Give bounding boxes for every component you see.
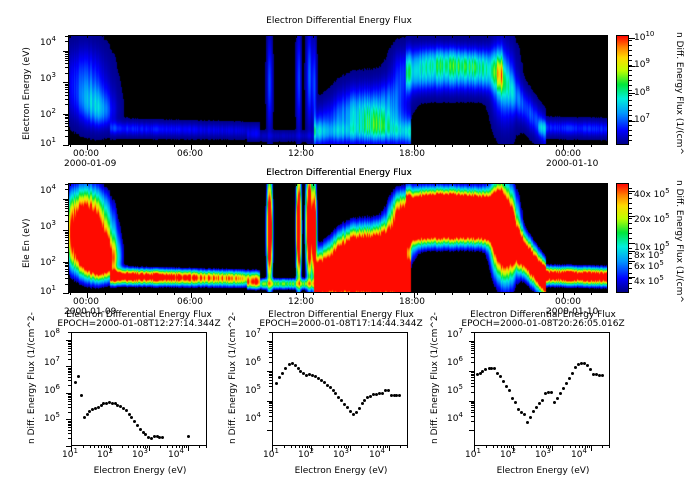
data-point [532,410,535,413]
spectrogram-top-xminor-top [574,35,575,38]
spectrogram-bottom-xminor-top [591,183,592,186]
spectrogram-top-xminor [209,144,210,147]
sp3-box-xminor [497,445,498,448]
colorbar-minor-tick [629,193,632,194]
sp1-box-yminor [68,348,72,349]
spectrogram-top-xminor-top [139,35,140,38]
spectrogram-top-xminor-top [591,35,592,38]
spectrogram-top-yminor [65,92,69,93]
data-point [77,375,80,378]
spectrogram-top-xtick-0: 00:00 [73,149,99,159]
sp1-box-xminor [199,445,200,448]
data-point [125,409,128,412]
colorbar-minor-tick [629,140,632,141]
sp3-box-yminor [471,353,475,354]
sp2-box-xminor [295,445,296,448]
sp1-box-yminor [68,399,72,400]
spectrogram-top-xminor-top [157,35,158,38]
data-point [294,364,297,367]
spectrogram-bottom-ytick-3: 104 [40,186,56,196]
sp2-box-ymajor [267,430,273,431]
data-point [358,407,361,410]
sp3-box-yminor [471,362,475,363]
spectrogram-top-yminor [65,36,69,37]
spectrogram-top-xminor-top [296,35,297,38]
spectrogram-top-xminor-top [70,35,71,38]
spectrogram-top-xminor [278,144,279,147]
spectrogram-top-xminor-top [400,35,401,38]
sp1-box-xminor [128,445,129,448]
colorbar-minor-tick [629,278,632,279]
spectrogram-top-yminor [65,126,69,127]
spectrum-1-xtick-2: 103 [132,450,148,460]
data-point [139,428,142,431]
colorbar-minor-tick [629,45,632,46]
sp1-box-xmajor [110,445,111,451]
spectrogram-top-xminor [105,144,106,147]
sp1-box-xminor [98,445,99,448]
spectrogram-top-yminor [65,85,69,86]
spectrogram-top-xminor [452,144,453,147]
data-point [496,372,499,375]
data-point [508,389,511,392]
spectrogram-bottom-cbar-tick-4: 20x 105 [634,215,670,225]
sp3-box-yminor [471,405,475,406]
sp2-box-yminor [269,346,273,347]
spectrogram-bottom-xminor-top [382,183,383,186]
colorbar-minor-tick [629,218,632,219]
colorbar-tick [629,216,635,217]
spectrogram-top-xminor-top [417,35,418,38]
sp3-box-yminor [471,350,475,351]
data-point [523,413,526,416]
data-point [502,380,505,383]
data-point [381,392,384,395]
spectrum-1-xtick-1: 102 [97,450,113,460]
spectrogram-top-xminor [435,144,436,147]
sp1-box-yminor [68,427,72,428]
spectrogram-bottom-xtick-1: 06:00 [177,297,203,307]
spectrogram-bottom-ymajor-1 [63,293,69,294]
spectrogram-top-xminor-top [521,35,522,38]
spectrogram-bottom-yminor [65,233,69,234]
spectrogram-bottom-cbar-tick-5: 40x 105 [634,190,670,200]
colorbar-minor-tick [629,135,632,136]
sp3-box-xminor [536,445,537,448]
spectrogram-bottom-yminor [65,271,69,272]
data-point [387,389,390,392]
sp2-box-yminor [269,412,273,413]
spectrogram-top-xminor-top [226,35,227,38]
spectrogram-bottom-ytick-0: 101 [40,287,56,297]
colorbar-minor-tick [629,238,632,239]
data-point [529,416,532,419]
colorbar-minor-tick [629,243,632,244]
spectrogram-top-ymajor-3 [63,82,69,83]
spectrogram-top-xminor-top [87,35,88,38]
spectrogram-bottom-yminor [65,204,69,205]
spectrogram-bottom-yminor [65,240,69,241]
spectrogram-bottom-xminor-top [261,183,262,186]
data-point [511,397,514,400]
colorbar-minor-tick [629,273,632,274]
spectrogram-bottom-xminor-top [435,183,436,186]
colorbar-minor-tick [629,203,632,204]
spectrum-3-subtitle: EPOCH=2000-01-08T20:26:05.016Z [398,319,688,329]
spectrogram-bottom-xminor-top [296,183,297,186]
data-point [284,367,287,370]
colorbar-minor-tick [629,283,632,284]
colorbar-minor-tick [629,223,632,224]
spectrogram-bottom-xtick-2: 12:00 [288,297,314,307]
sp3-box-xmajor [513,445,514,451]
sp1-box-yminor [68,412,72,413]
sp3-box-xminor [509,445,510,448]
data-point [83,416,86,419]
sp2-box-yminor [269,383,273,384]
data-point [535,406,538,409]
spectrogram-top-xminor-top [452,35,453,38]
spectrogram-bottom-xminor-top [139,183,140,186]
spectrogram-top-yminor [65,60,69,61]
spectrogram-top-yminor [65,52,69,53]
data-point [187,435,190,438]
sp3-box-yminor [471,375,475,376]
spectrum-1-ytick-0: 105 [44,414,60,424]
sp3-box-xminor [525,445,526,448]
data-point [80,394,83,397]
spectrum-1-ylabel: n Diff. Energy Flux (1/(cm^2- [27,312,37,444]
spectrogram-bottom-xminor [348,292,349,295]
sp1-box-yminor [68,401,72,402]
sp1-box-xminor [172,445,173,448]
sp2-box-yminor [269,374,273,375]
data-point [571,372,574,375]
spectrogram-top-ytick-0: 101 [40,139,56,149]
sp2-box-xmajor [350,445,351,451]
sp2-box-yminor [269,392,273,393]
spectrogram-top-xmajor-4 [563,144,564,150]
sp1-box-yminor [68,424,72,425]
sp3-box-yminor [471,412,475,413]
spectrogram-top-xminor [574,144,575,147]
spectrum-3-ytick-0: 104 [447,414,463,424]
sp3-box-yminor [471,372,475,373]
spectrogram-top-cbar-label: n Diff. Energy Flux (1/(cm^ [674,32,684,155]
sp2-box-xminor [302,445,303,448]
spectrogram-top-xminor-top [435,35,436,38]
spectrogram-top-xminor [261,144,262,147]
colorbar-minor-tick [629,263,632,264]
sp2-box-ymajor [267,371,273,372]
sp1-box-xminor [143,445,144,448]
spectrogram-top-xminor [244,144,245,147]
colorbar-tick [629,93,635,94]
spectrogram-bottom-xminor-top [209,183,210,186]
spectrogram-top-xminor-top [487,35,488,38]
spectrogram-bottom-yminor [65,243,69,244]
spectrogram-top-colorbar [616,35,629,145]
sp1-box-yminor [68,433,72,434]
spectrogram-bottom-yminor [65,200,69,201]
spectrogram-top-yminor [65,67,69,68]
sp2-box-xminor [334,445,335,448]
data-point [589,368,592,371]
spectrogram-top-yminor [65,118,69,119]
spectrogram-bottom-yminor [65,284,69,285]
sp1-box-xminor [104,445,105,448]
spectrogram-top-xminor [556,144,557,147]
spectrum-2-xtick-1: 102 [298,450,314,460]
spectrogram-top-xminor [417,144,418,147]
sp1-box-xminor [167,445,168,448]
sp3-box-ymajor [469,341,475,342]
sp1-box-yminor [68,354,72,355]
spectrogram-bottom-yminor [65,252,69,253]
sp3-box-yminor [471,357,475,358]
sp3-box-xminor [504,445,505,448]
spectrogram-bottom-xminor [330,292,331,295]
spectrogram-bottom-yminor [65,189,69,190]
sp3-box-yminor [471,348,475,349]
spectrogram-top-cbar-tick-2: 109 [634,60,650,70]
sp3-box-xminor [585,445,586,448]
sp3-box-xminor [501,445,502,448]
sp3-box-yminor [471,410,475,411]
sp2-box-ymajor [267,341,273,342]
spectrogram-bottom-xmajor-4 [563,292,564,298]
spectrogram-top-yminor [65,58,69,59]
sp1-box-xminor [122,445,123,448]
sp2-box-xminor [361,445,362,448]
colorbar-tick [629,38,635,39]
spectrogram-top-xminor [122,144,123,147]
sp1-box-yminor [68,397,72,398]
sp3-box-xminor [543,445,544,448]
spectrogram-bottom-xminor-top [191,183,192,186]
sp1-box-yminor [68,344,72,345]
spectrogram-top-xminor [487,144,488,147]
spectrogram-bottom-xminor-top [87,183,88,186]
spectrogram-top-xtick-2: 12:00 [288,149,314,159]
colorbar-minor-tick [629,60,632,61]
data-point [334,392,337,395]
sp1-box-yminor [68,346,72,347]
spectrogram-top-xminor [70,144,71,147]
data-point [161,436,164,439]
sp1-box-yminor [68,371,72,372]
sp1-box-yminor [68,341,72,342]
sp1-box-xminor [145,445,146,448]
spectrogram-bottom-xminor-top [226,183,227,186]
sp3-box-yminor [471,342,475,343]
sp2-box-yminor [269,353,273,354]
data-point [337,396,340,399]
spectrogram-bottom-xtick-0: 00:00 [73,297,99,307]
colorbar-minor-tick [629,40,632,41]
sp3-box-xminor [602,445,603,448]
spectrum-3-ytick-1: 105 [447,386,463,396]
spectrogram-bottom-xminor-top [469,183,470,186]
colorbar-minor-tick [629,110,632,111]
spectrum-2-ytick-3: 107 [245,330,261,340]
spectrogram-top-xminor [296,144,297,147]
sp2-box-xminor [380,445,381,448]
sp2-box-yminor [269,416,273,417]
data-point [398,394,401,397]
data-point [136,424,139,427]
sp2-box-yminor [269,332,273,333]
sp3-box-xminor [546,445,547,448]
spectrogram-top-xminor [174,144,175,147]
spectrogram-bottom-xminor-top [452,183,453,186]
sp2-box-xminor [307,445,308,448]
sp2-box-xminor [383,445,384,448]
sp2-box-yminor [269,402,273,403]
sp2-box-xminor [329,445,330,448]
spectrogram-bottom-xtick-3: 18:00 [399,297,425,307]
sp3-box-xminor [609,445,610,448]
spectrogram-bottom-xminor-top [539,183,540,186]
sp1-box-xmajor [149,445,150,451]
sp3-box-xminor [570,445,571,448]
colorbar-minor-tick [629,55,632,56]
sp3-box-xminor [531,445,532,448]
spectrogram-bottom-xminor [105,292,106,295]
sp1-box-yminor [68,377,72,378]
sp2-box-yminor [269,386,273,387]
sp2-box-yminor [269,357,273,358]
colorbar-minor-tick [629,198,632,199]
sp1-box-yminor [68,394,72,395]
spectrogram-top-xtick-1: 06:00 [177,149,203,159]
colorbar-minor-tick [629,248,632,249]
sp3-box-xmajor [552,445,553,451]
sp2-box-xminor [284,445,285,448]
sp1-box-yminor [68,351,72,352]
spectrogram-bottom-xminor-top [122,183,123,186]
spectrogram-bottom-xmajor-3 [414,292,415,298]
sp2-box-yminor [269,380,273,381]
sp1-box-yminor [68,368,72,369]
spectrogram-bottom-xminor [400,292,401,295]
data-point [355,411,358,414]
data-point [493,367,496,370]
sp2-box-xminor [385,445,386,448]
colorbar-minor-tick [629,80,632,81]
spectrum-1-plot-area [71,332,207,446]
spectrogram-bottom-cbar-label: n Diff. Energy Flux (1/(cm^ [674,180,684,303]
sp1-box-yminor [68,374,72,375]
sp1-box-yminor [68,421,72,422]
spectrum-1-xlabel: Electron Energy (eV) [60,466,220,476]
spectrogram-bottom-yminor [65,265,69,266]
sp1-box-yminor [68,438,72,439]
sp1-box-ymajor [66,419,72,420]
spectrogram-top-xminor [539,144,540,147]
spectrogram-bottom-xminor [417,292,418,295]
spectrogram-bottom-xminor-top [400,183,401,186]
sp1-box-xminor [184,445,185,448]
spectrogram-bottom-xminor [313,292,314,295]
data-point [550,391,553,394]
spectrogram-bottom-ymajor-2 [63,262,69,263]
spectrogram-top-xminor-top [244,35,245,38]
colorbar-minor-tick [629,70,632,71]
spectrogram-bottom-xminor-top [556,183,557,186]
spectrogram-bottom-xtick-4: 00:00 [555,297,581,307]
spectrogram-top-ytick-1: 102 [40,110,56,120]
sp3-box-yminor [471,374,475,375]
sp1-box-yminor [68,372,72,373]
spectrogram-top-xmajor-3 [414,144,415,150]
sp2-box-yminor [269,410,273,411]
data-point [601,374,604,377]
colorbar-minor-tick [629,65,632,66]
colorbar-minor-tick [629,95,632,96]
spectrum-1-ytick-2: 107 [44,358,60,368]
spectrogram-top-yminor [65,87,69,88]
sp1-box-yminor [68,422,72,423]
sp1-box-xminor [176,445,177,448]
sp2-box-xminor [305,445,306,448]
spectrogram-bottom-xminor [296,292,297,295]
spectrum-3-xtick-0: 101 [465,450,481,460]
spectrogram-top-xminor-top [348,35,349,38]
sp3-box-yminor [471,346,475,347]
spectrum-3-xtick-1: 102 [500,450,516,460]
spectrogram-top-xminor-top [556,35,557,38]
sp3-box-xminor [493,445,494,448]
spectrogram-top-yminor [65,121,69,122]
sp2-box-ymajor [267,401,273,402]
sp2-box-yminor [269,348,273,349]
colorbar-tick [629,261,635,262]
spectrogram-bottom-xminor [261,292,262,295]
data-point [361,402,364,405]
sp1-box-xminor [94,445,95,448]
spectrogram-top-xminor-top [105,35,106,38]
spectrogram-bottom-xmajor-2 [303,292,304,298]
sp3-box-xminor [486,445,487,448]
spectrogram-top-xminor [330,144,331,147]
spectrogram-top-xminor [191,144,192,147]
spectrogram-top-date-right: 2000-01-10 [546,159,598,169]
spectrogram-bottom-xminor-top [330,183,331,186]
spectrum-2-xtick-0: 101 [263,450,279,460]
spectrogram-top-xminor [139,144,140,147]
spectrogram-top-yminor [65,89,69,90]
spectrogram-top-xminor [157,144,158,147]
spectrogram-bottom-xminor [382,292,383,295]
spectrogram-top-xminor-top [313,35,314,38]
spectrogram-bottom-ytick-2: 103 [40,222,56,232]
data-point [346,406,349,409]
spectrogram-bottom-xminor [487,292,488,295]
data-point [499,375,502,378]
sp2-box-xmajor [389,445,390,451]
sp3-box-yminor [471,332,475,333]
spectrogram-bottom-xminor-top [365,183,366,186]
data-point [526,421,529,424]
sp3-box-yminor [471,392,475,393]
spectrogram-bottom-xminor-top [574,183,575,186]
data-point [553,401,556,404]
data-point [74,381,77,384]
spectrogram-bottom-xminor [174,292,175,295]
colorbar-minor-tick [629,85,632,86]
spectrogram-bottom-xminor [70,292,71,295]
